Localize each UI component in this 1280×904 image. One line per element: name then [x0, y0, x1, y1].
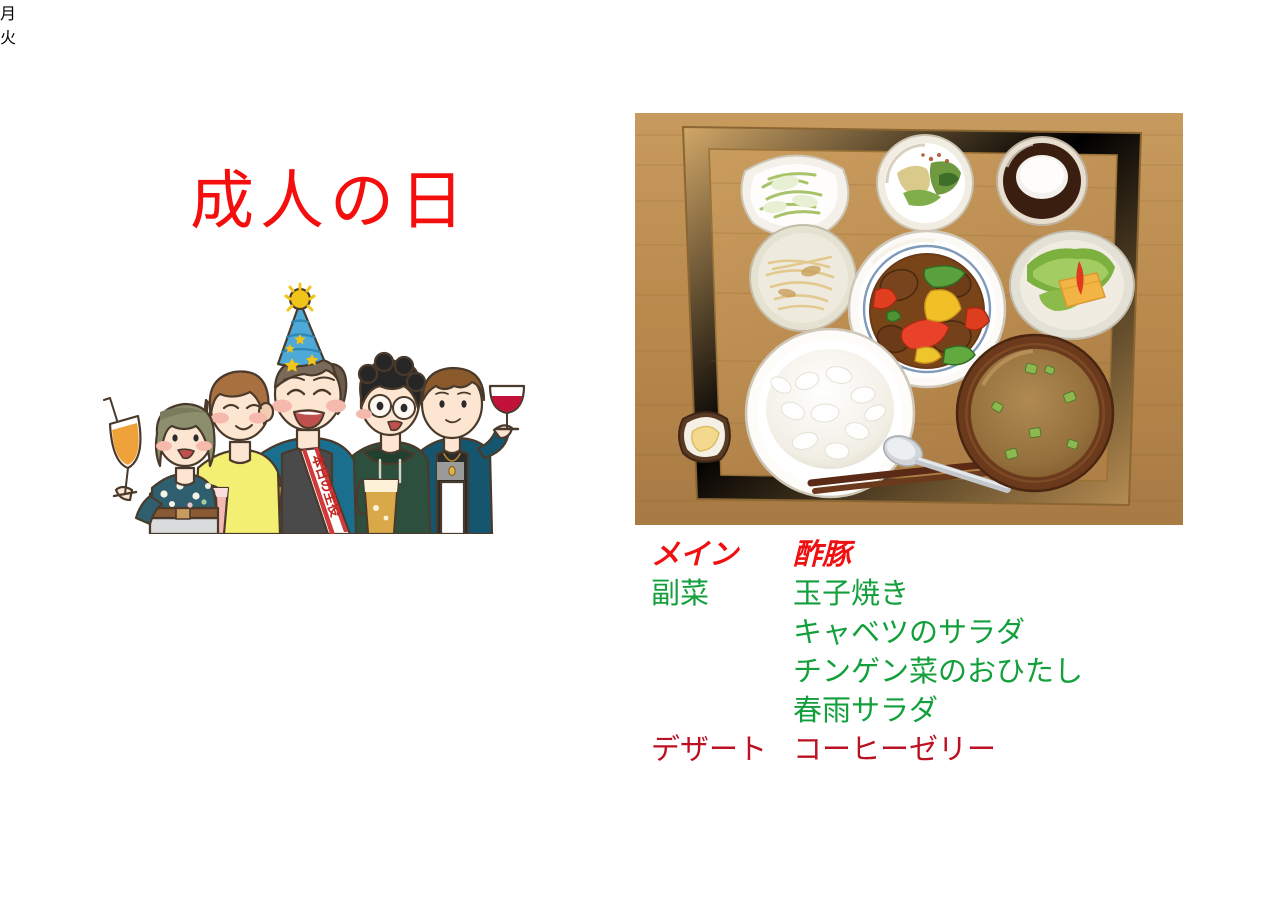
menu-value-side-2: キャベツのサラダ: [793, 614, 1025, 653]
menu-label-main: メイン: [651, 536, 793, 575]
menu-row-side-2: キャベツのサラダ: [651, 614, 1171, 653]
menu-row-side-3: チンゲン菜のおひたし: [651, 653, 1171, 692]
day-header-tuesday: 火: [0, 24, 280, 48]
menu-row-main: メイン酢豚: [651, 536, 1171, 575]
menu-row-side-4: 春雨サラダ: [651, 692, 1171, 731]
menu-value-dessert: コーヒーゼリー: [793, 731, 996, 770]
menu-value-side-4: 春雨サラダ: [793, 692, 938, 731]
menu-label-dessert: デザート: [651, 731, 793, 770]
menu-row-dessert: デザートコーヒーゼリー: [651, 731, 1171, 770]
menu-value-side-1: 玉子焼き: [793, 575, 909, 614]
menu-value-main: 酢豚: [793, 536, 851, 575]
menu-row-side-1: 副菜玉子焼き: [651, 575, 1171, 614]
holiday-title: 成人の日: [120, 168, 540, 235]
menu-page: 月 成人の日: [0, 0, 1280, 904]
menu-list: メイン酢豚 副菜玉子焼き キャベツのサラダ チンゲン菜のおひたし 春雨サラダ デ…: [651, 536, 1171, 770]
menu-label-side: 副菜: [651, 575, 793, 614]
day-header-monday: 月: [0, 0, 280, 24]
coming-of-age-celebration-illustration: 本日の主役: [92, 282, 540, 534]
meal-tray-photo: [635, 113, 1183, 525]
menu-value-side-3: チンゲン菜のおひたし: [793, 653, 1083, 692]
